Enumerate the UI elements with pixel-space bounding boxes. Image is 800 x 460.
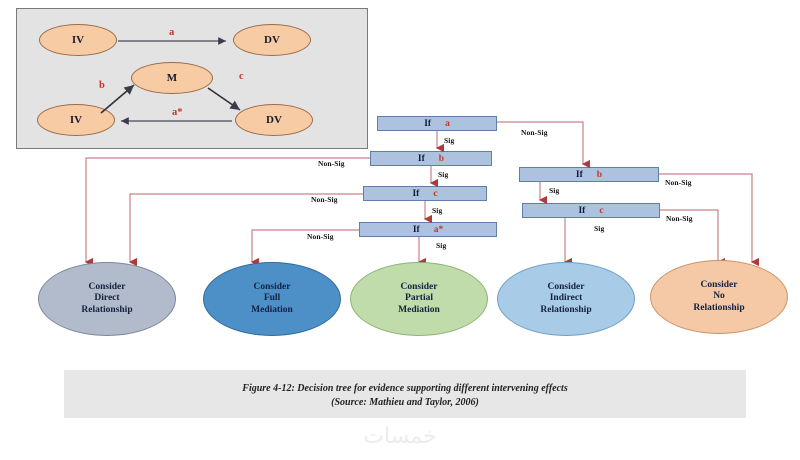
outcome-line1: Consider [89, 282, 126, 293]
model-arrows [17, 9, 369, 150]
decision-variable: b [439, 154, 444, 164]
outcome-line2: Direct [94, 293, 119, 304]
conceptual-model-panel: IV DV M IV DV a b c a* [16, 8, 368, 149]
tag-nonsig-astar: Non-Sig [307, 232, 334, 241]
decision-box-if-c-left[interactable]: If c [363, 186, 487, 201]
tag-nonsig-b-left: Non-Sig [318, 159, 345, 168]
outcome-line3: Mediation [398, 305, 440, 316]
decision-box-if-astar[interactable]: If a* [359, 222, 497, 237]
tag-sig-c-left: Sig [432, 206, 442, 215]
decision-variable: c [599, 206, 603, 216]
outcome-consider-direct-relationship[interactable]: Consider Direct Relationship [38, 262, 176, 336]
arrow-nonsig-b-left-to-direct [86, 158, 370, 262]
outcome-line1: Consider [401, 282, 438, 293]
outcome-line2: Indirect [550, 293, 583, 304]
decision-variable: b [597, 170, 602, 180]
outcome-line3: Mediation [251, 305, 293, 316]
decision-keyword: If [578, 206, 585, 216]
decision-keyword: If [424, 119, 431, 129]
decision-keyword: If [413, 225, 420, 235]
tag-nonsig-c-left: Non-Sig [311, 195, 338, 204]
tag-sig-b-right: Sig [549, 186, 559, 195]
tag-sig-c-right: Sig [594, 224, 604, 233]
decision-box-if-c-right[interactable]: If c [522, 203, 660, 218]
tag-nonsig-a: Non-Sig [521, 128, 548, 137]
decision-keyword: If [412, 189, 419, 199]
outcome-line1: Consider [701, 280, 738, 291]
tag-nonsig-c-right: Non-Sig [666, 214, 693, 223]
decision-box-if-b-left[interactable]: If b [370, 151, 492, 166]
arrow-nonsig-c-left-to-direct [130, 194, 363, 262]
decision-box-if-b-right[interactable]: If b [519, 167, 659, 182]
arrow-nonsig-astar-to-full [252, 230, 359, 262]
tag-sig-astar: Sig [436, 241, 446, 250]
decision-variable: a [445, 119, 450, 129]
figure-canvas: IV DV M IV DV a b c a* [0, 0, 800, 460]
tag-nonsig-b-right: Non-Sig [665, 178, 692, 187]
decision-keyword: If [418, 154, 425, 164]
arrow-iv-m [101, 85, 134, 113]
arrow-m-dv [208, 88, 240, 110]
outcome-consider-partial-mediation[interactable]: Consider Partial Mediation [350, 262, 488, 336]
outcome-line3: Relationship [81, 305, 132, 316]
outcome-consider-full-mediation[interactable]: Consider Full Mediation [203, 262, 341, 336]
decision-keyword: If [576, 170, 583, 180]
figure-caption: Figure 4-12: Decision tree for evidence … [64, 382, 746, 409]
outcome-line3: Relationship [540, 305, 591, 316]
outcome-line3: Relationship [693, 303, 744, 314]
outcome-line1: Consider [548, 282, 585, 293]
caption-line-2: (Source: Mathieu and Taylor, 2006) [64, 396, 746, 410]
outcome-line2: Partial [405, 293, 433, 304]
outcome-consider-no-relationship[interactable]: Consider No Relationship [650, 260, 788, 334]
decision-box-if-a[interactable]: If a [377, 116, 497, 131]
outcome-line2: No [713, 291, 725, 302]
tag-sig-a: Sig [444, 136, 454, 145]
decision-variable: a* [434, 225, 444, 235]
outcome-consider-indirect-relationship[interactable]: Consider Indirect Relationship [497, 262, 635, 336]
decision-variable: c [433, 189, 437, 199]
caption-line-1: Figure 4-12: Decision tree for evidence … [64, 382, 746, 396]
watermark-khamsat: خمسات [0, 424, 800, 449]
outcome-line2: Full [264, 293, 280, 304]
outcome-line1: Consider [254, 282, 291, 293]
tag-sig-b-left: Sig [438, 170, 448, 179]
